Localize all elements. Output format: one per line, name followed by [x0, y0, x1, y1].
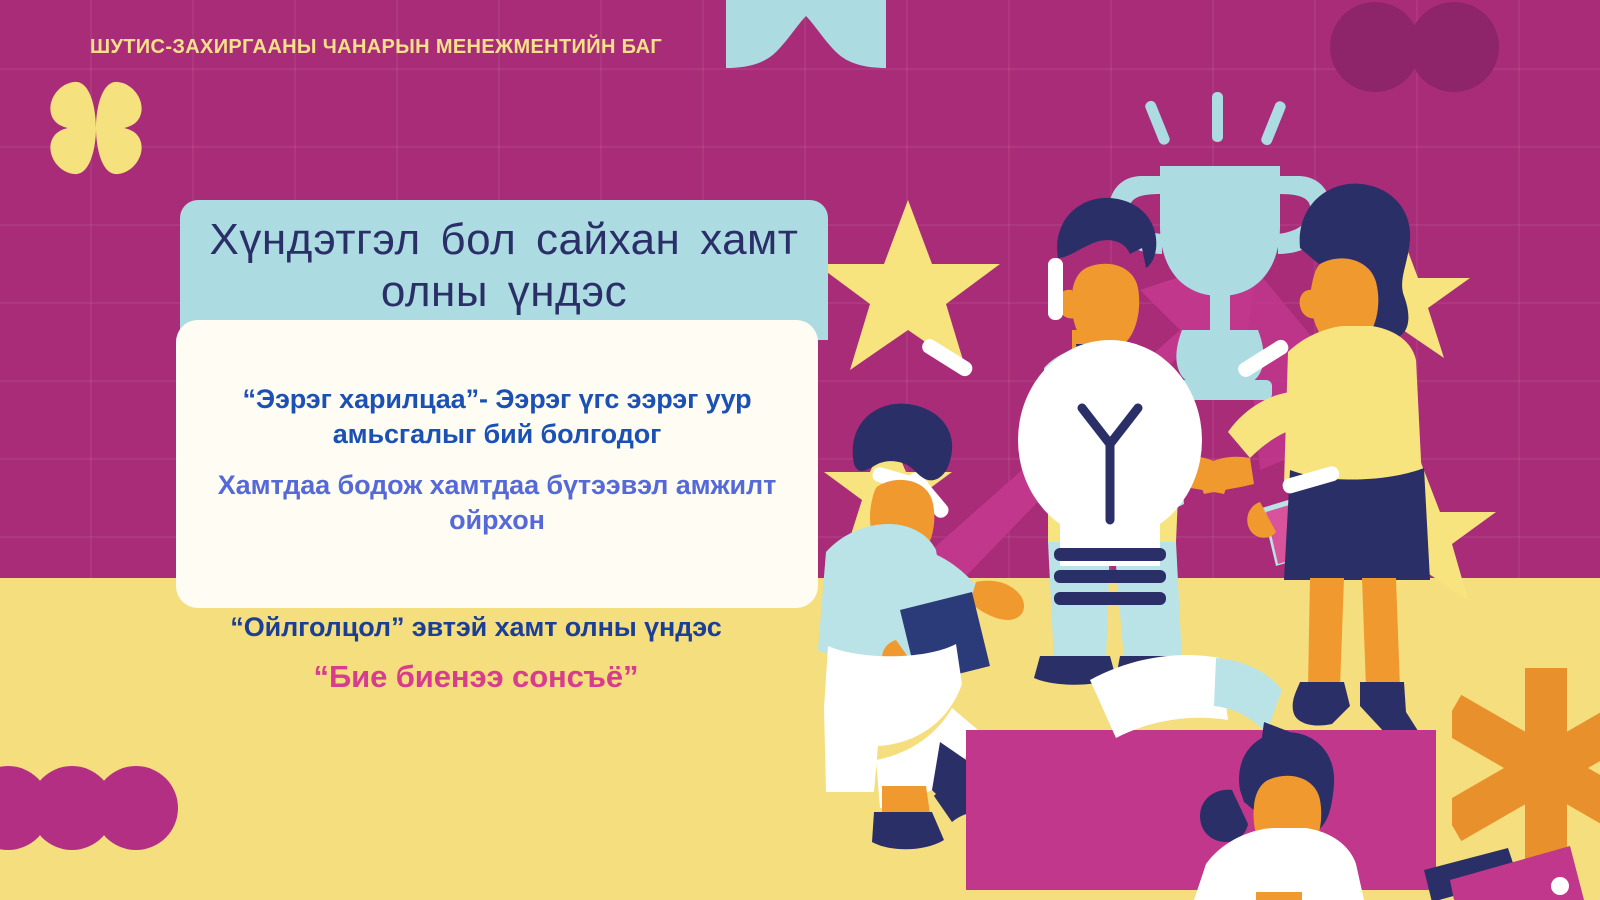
slide-canvas: ШУТИС-ЗАХИРГААНЫ ЧАНАРЫН МЕНЕЖМЕНТИЙН БА… — [0, 0, 1600, 900]
footer-text-block: “Ойлголцол” эвтэй хамт олны үндэс “Бие б… — [176, 612, 776, 695]
trophy-rays — [1144, 92, 1287, 147]
title-card: Хүндэтгэл бол сайхан хамт олны үндэс — [180, 200, 828, 340]
star-large-left — [816, 200, 1000, 370]
circle-decoration-bottom-left-3 — [94, 766, 178, 850]
flower-four-petal-icon — [46, 78, 146, 178]
page-title: Хүндэтгэл бол сайхан хамт олны үндэс — [180, 214, 828, 318]
brand-label: ШУТИС-ЗАХИРГААНЫ ЧАНАРЫН МЕНЕЖМЕНТИЙН БА… — [90, 36, 662, 59]
footer-line-2: “Бие биенээ сонсъё” — [176, 659, 776, 695]
body-paragraph-1: “Ээрэг харилцаа”- Ээрэг үгс ээрэг уур ам… — [210, 382, 784, 452]
body-paragraph-2: Хамтдаа бодож хамтдаа бүтээвэл амжилт ой… — [210, 468, 784, 538]
body-card: “Ээрэг харилцаа”- Ээрэг үгс ээрэг уур ам… — [176, 320, 818, 608]
footer-line-1: “Ойлголцол” эвтэй хамт олны үндэс — [176, 612, 776, 643]
